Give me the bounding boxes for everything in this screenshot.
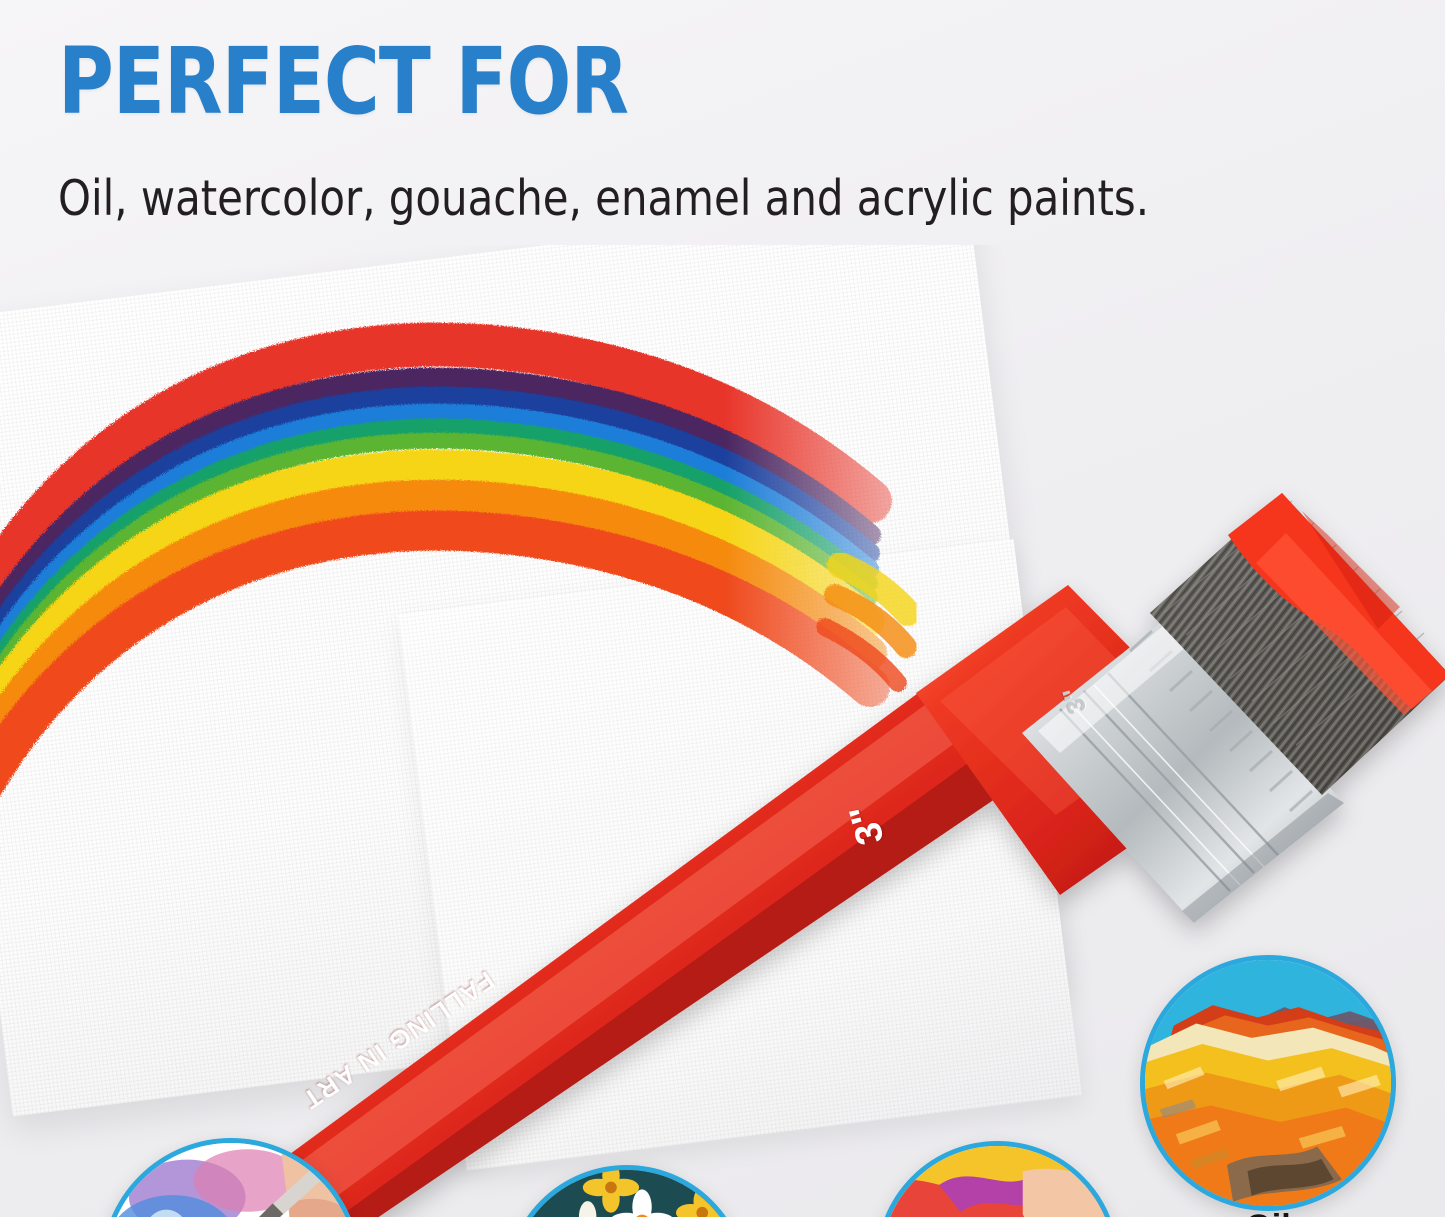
callout-gouache: Gouache: [505, 1165, 748, 1217]
page-subtitle: Oil, watercolor, gouache, enamel and acr…: [58, 173, 1149, 224]
callout-acrylic: Acrylic: [876, 1141, 1119, 1217]
callout-image-oil: [1140, 955, 1396, 1211]
callout-image-gouache: [505, 1165, 748, 1217]
page-title: PERFECT FOR: [58, 36, 628, 128]
callout-watercolor: Watercolor: [101, 1138, 361, 1217]
callout-image-acrylic: [876, 1141, 1119, 1217]
callout-label-oil: Oil: [1140, 1208, 1396, 1217]
callout-image-watercolor: [101, 1138, 361, 1217]
product-photo: FALLING IN ART 3" 3": [0, 245, 1445, 1217]
product-marketing-image: PERFECT FOR Oil, watercolor, gouache, en…: [0, 0, 1445, 1217]
callout-oil: Oil: [1140, 955, 1396, 1211]
